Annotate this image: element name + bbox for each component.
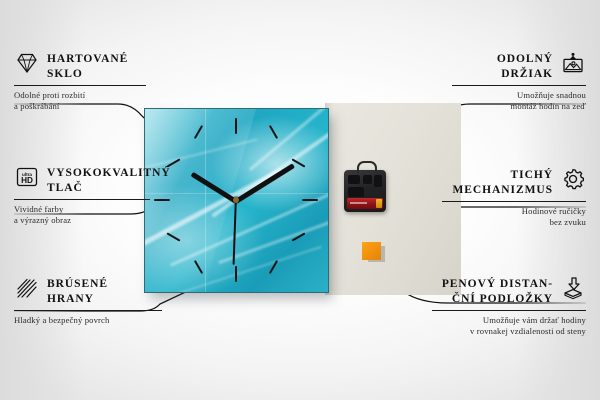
svg-text:HD: HD xyxy=(21,176,33,185)
foam-spacer-pad xyxy=(362,242,381,260)
feature-subtitle: Hladký a bezpečný povrch xyxy=(14,315,162,326)
feature-header: HARTOVANÉ SKLO xyxy=(14,52,146,81)
divider xyxy=(452,85,586,86)
feature-title: TICHÝ MECHANIZMUS xyxy=(452,168,553,197)
hour-tick xyxy=(269,125,278,139)
feature-title: VYSOKOKVALITNÝ TLAČ xyxy=(47,166,171,195)
gear-icon xyxy=(560,167,586,191)
mechanism-detail xyxy=(348,187,364,197)
feature-title: HARTOVANÉ SKLO xyxy=(47,52,128,81)
feature-high-quality-print: ultra HD VYSOKOKVALITNÝ TLAČ Vividné far… xyxy=(14,166,150,227)
divider xyxy=(442,201,586,202)
feature-header: PENOVÝ DISTAN- ČNÍ PODLOŽKY xyxy=(432,277,586,306)
clock-movement-mechanism xyxy=(344,170,386,212)
feature-header: ultra HD VYSOKOKVALITNÝ TLAČ xyxy=(14,166,150,195)
mechanism-detail xyxy=(363,175,372,184)
clock-center-pin xyxy=(233,197,239,203)
hour-tick xyxy=(154,199,170,201)
polished-edges-icon xyxy=(14,276,40,300)
feature-title: ODOLNÝ DRŽIAK xyxy=(497,52,553,81)
minute-hand xyxy=(235,163,295,203)
hour-tick xyxy=(235,266,237,282)
feature-polished-edges: BRÚSENÉ HRANY Hladký a bezpečný povrch xyxy=(14,277,162,326)
wall-clock xyxy=(144,108,327,291)
wall-hanger-icon xyxy=(560,51,586,75)
feature-header: ODOLNÝ DRŽIAK xyxy=(452,52,586,81)
feature-subtitle: Hodinové ručičky bez zvuku xyxy=(442,206,586,229)
foam-spacer-icon xyxy=(560,276,586,300)
divider xyxy=(14,310,162,311)
feature-silent-mechanism: TICHÝ MECHANIZMUS Hodinové ručičky bez z… xyxy=(442,168,586,229)
feature-title: BRÚSENÉ HRANY xyxy=(47,277,108,306)
feature-subtitle: Odolné proti rozbití a poškrábání xyxy=(14,90,146,113)
feature-header: TICHÝ MECHANIZMUS xyxy=(442,168,586,197)
ultra-hd-icon: ultra HD xyxy=(14,165,40,189)
divider xyxy=(432,310,586,311)
hanger-loop-icon xyxy=(357,161,377,173)
mechanism-detail xyxy=(374,175,382,187)
feature-subtitle: Umožňuje vám držať hodiny v rovnakej vzd… xyxy=(432,315,586,338)
feature-subtitle: Umožňuje snadnou montáž hodin na zeď xyxy=(452,90,586,113)
divider xyxy=(14,199,150,200)
hour-tick xyxy=(302,199,318,201)
feature-subtitle: Vividné farby a výrazný obraz xyxy=(14,204,150,227)
divider xyxy=(14,85,146,86)
feature-hardened-glass: HARTOVANÉ SKLO Odolné proti rozbití a po… xyxy=(14,52,146,113)
hour-tick xyxy=(235,118,237,134)
mechanism-detail xyxy=(348,175,360,184)
feature-header: BRÚSENÉ HRANY xyxy=(14,277,162,306)
clock-glass-face xyxy=(144,108,329,293)
feature-title: PENOVÝ DISTAN- ČNÍ PODLOŽKY xyxy=(442,277,553,306)
product-infographic: HARTOVANÉ SKLO Odolné proti rozbití a po… xyxy=(0,0,600,400)
feature-foam-spacers: PENOVÝ DISTAN- ČNÍ PODLOŽKY Umožňuje vám… xyxy=(432,277,586,338)
battery xyxy=(347,198,383,209)
feature-durable-hanger: ODOLNÝ DRŽIAK Umožňuje snadnou montáž ho… xyxy=(452,52,586,113)
diamond-icon xyxy=(14,51,40,75)
